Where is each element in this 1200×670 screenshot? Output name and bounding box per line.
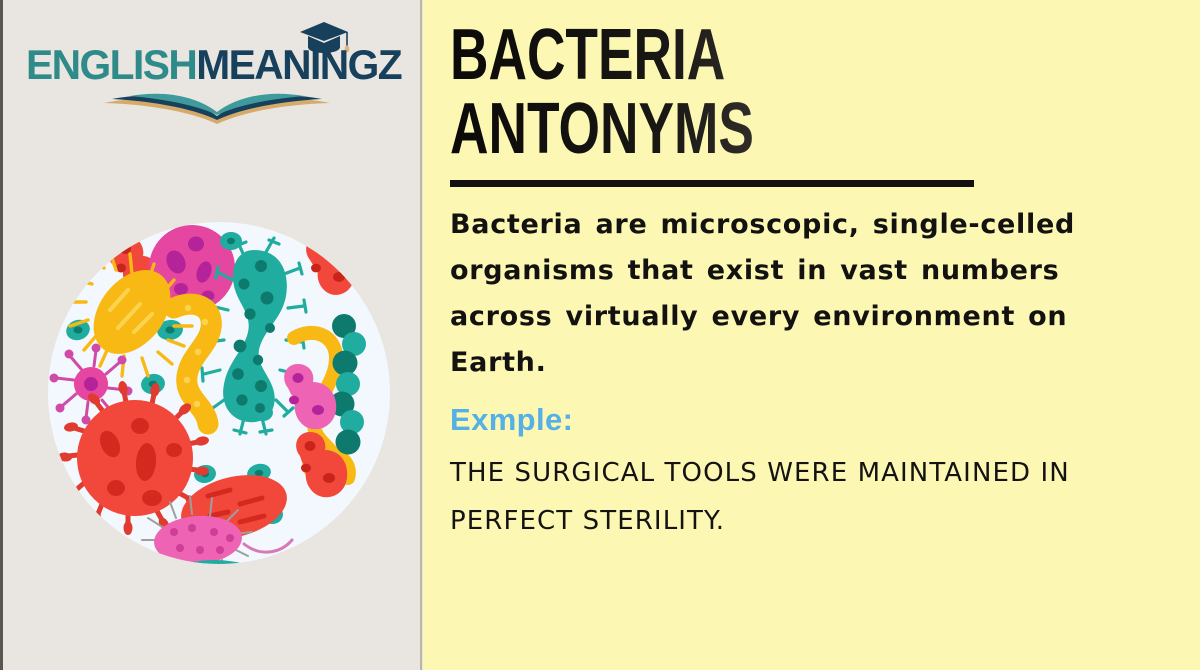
left-edge-accent [0, 0, 3, 670]
page-title-line-1: BACTERIA [450, 18, 968, 92]
example-label: Exmple: [450, 402, 1150, 438]
brand-wordmark-part1: ENGLISH [26, 41, 196, 88]
content-column: BACTERIA ANTONYMS Bacteria are microscop… [450, 18, 1150, 545]
petri-dish-bacteria-illustration [48, 222, 390, 564]
infographic-card: ENGLISHMEANINGZ [0, 0, 1200, 670]
brand-wordmark: ENGLISHMEANINGZ [26, 44, 387, 86]
brand-logo[interactable]: ENGLISHMEANINGZ [26, 18, 398, 122]
page-title-line-2: ANTONYMS [450, 92, 968, 166]
right-panel: BACTERIA ANTONYMS Bacteria are microscop… [423, 0, 1200, 670]
open-book-icon [86, 90, 348, 124]
left-panel: ENGLISHMEANINGZ [0, 0, 423, 670]
definition-text: Bacteria are microscopic, single-celled … [450, 202, 1094, 386]
panel-divider [420, 0, 422, 670]
title-divider-rule [450, 180, 974, 187]
example-sentence: THE SURGICAL TOOLS WERE MAINTAINED IN PE… [450, 449, 1150, 545]
page-title: BACTERIA ANTONYMS [450, 18, 1150, 166]
brand-wordmark-part2: MEANINGZ [196, 41, 401, 88]
bacterium-teal-flat-oval [152, 560, 276, 564]
